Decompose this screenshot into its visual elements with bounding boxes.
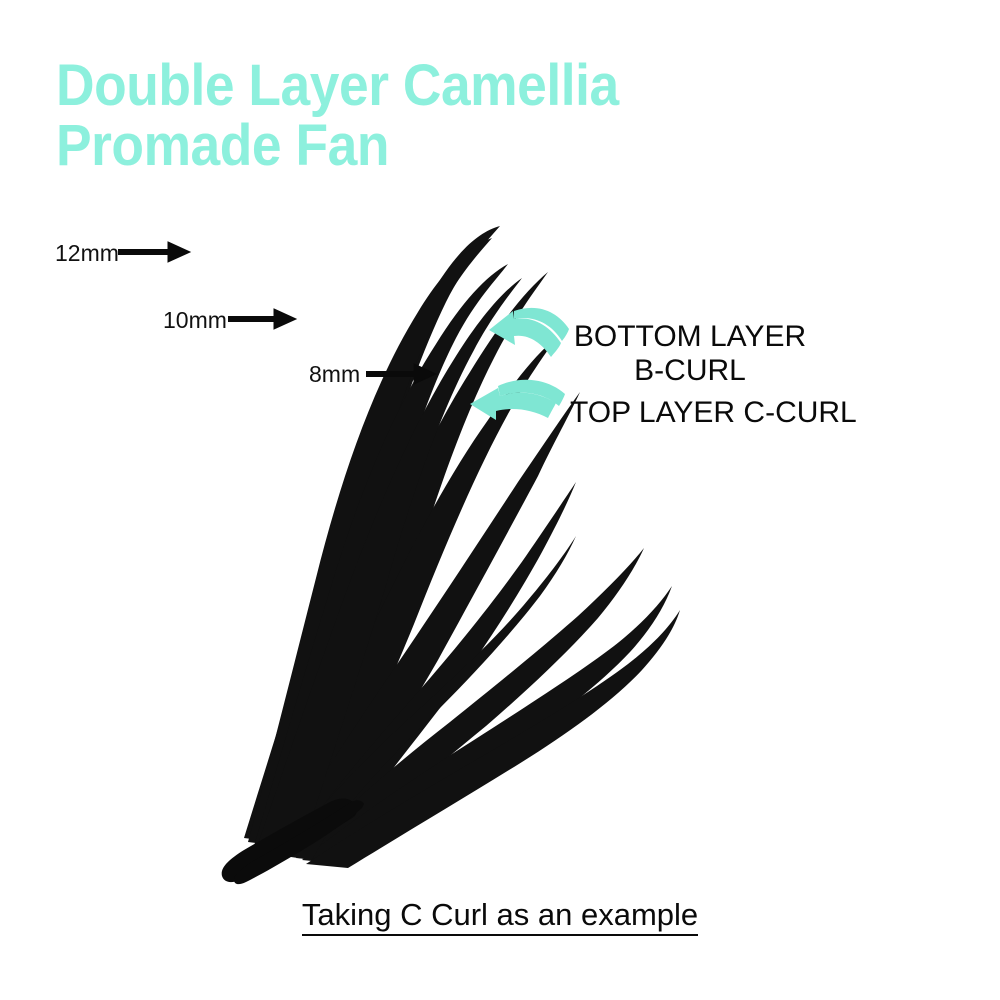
- measure-arrow-10mm: [228, 309, 296, 329]
- caption-text: Taking C Curl as an example: [302, 897, 698, 936]
- promade-fan-infographic: Double Layer Camellia Promade Fan: [0, 0, 1000, 1000]
- measurement-label-10mm: 10mm: [163, 307, 227, 334]
- top-layer-callout: TOP LAYER C-CURL: [570, 396, 870, 430]
- measure-arrow-12mm: [118, 242, 190, 262]
- caption: Taking C Curl as an example: [0, 897, 1000, 933]
- measurement-label-8mm: 8mm: [309, 361, 360, 388]
- lash-fan-diagram: [0, 0, 1000, 1000]
- bottom-layer-callout: BOTTOM LAYER B-CURL: [570, 320, 810, 388]
- measurement-label-12mm: 12mm: [55, 240, 119, 267]
